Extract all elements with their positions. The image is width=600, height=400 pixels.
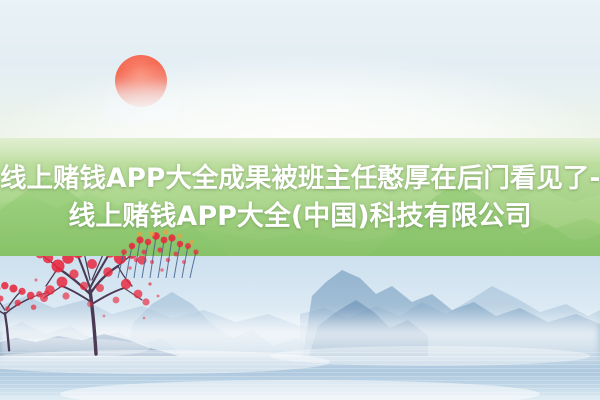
sky-haze xyxy=(0,0,600,160)
blue-lake-band xyxy=(0,256,600,400)
tree-small xyxy=(0,291,47,350)
landscape-banner: 线上赌钱APP大全成果被班主任憨厚在后门看见了- 线上赌钱APP大全(中国)科技… xyxy=(0,0,600,400)
green-hill-silhouettes xyxy=(0,138,600,256)
green-mountain-band xyxy=(0,138,600,256)
red-shrub-tuft xyxy=(96,226,226,278)
